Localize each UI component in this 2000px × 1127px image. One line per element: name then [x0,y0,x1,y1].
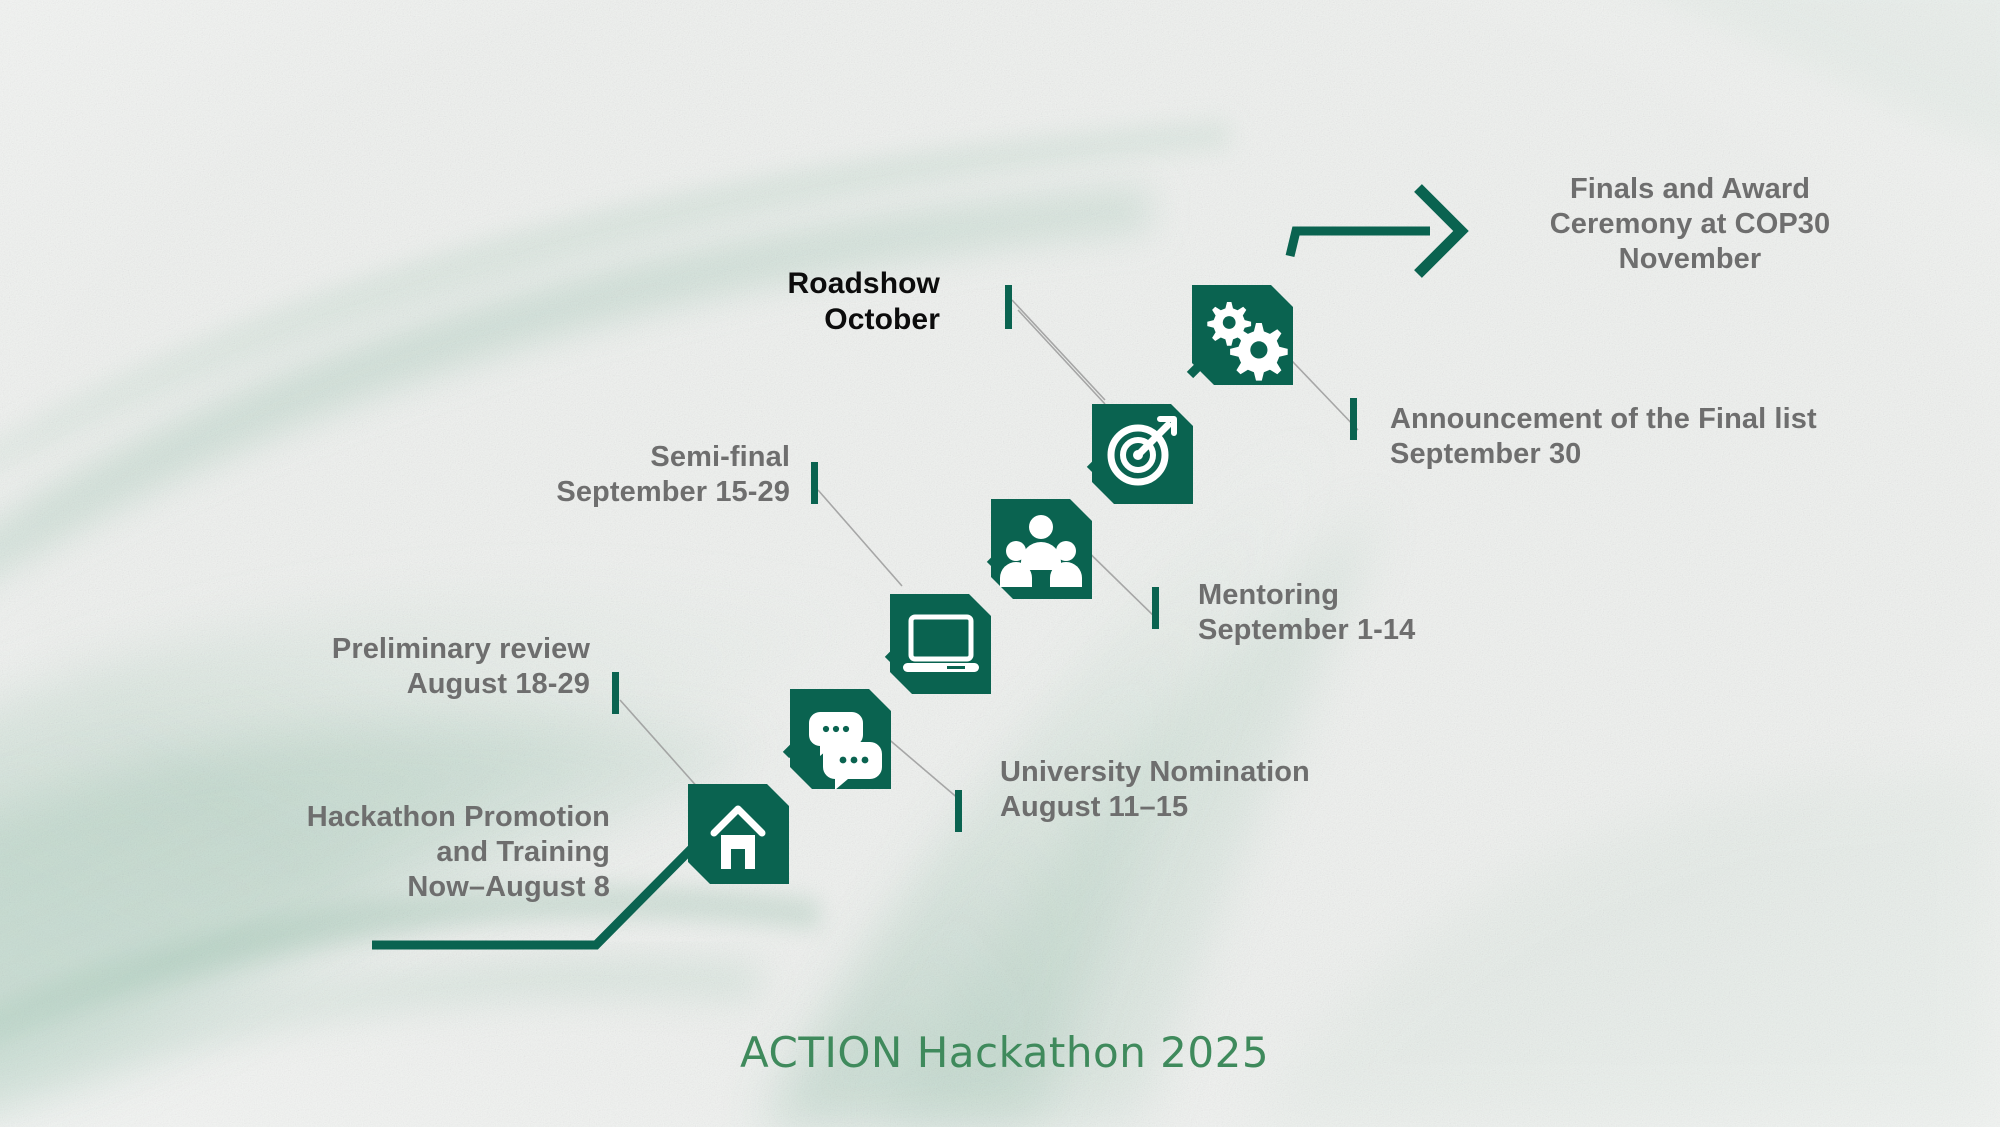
label-announcement-final-list: Announcement of the Final list September… [1390,402,1990,472]
milestone-node-announcement-final-list[interactable] [1192,285,1293,385]
label-university-nomination: University Nomination August 11–15 [1000,755,1480,825]
label-mentoring: Mentoring September 1-14 [1198,578,1618,648]
tick-university-nomination [955,790,962,832]
tick-announcement [1350,398,1357,440]
milestone-node-mentoring[interactable] [991,499,1092,599]
milestone-node-hackathon-promotion[interactable] [688,784,789,884]
label-preliminary-review: Preliminary review August 18-29 [180,632,590,702]
tick-semi-final [811,462,818,504]
milestone-node-university-nomination[interactable] [790,689,891,790]
timeline-poster: Hackathon Promotion and Training Now–Aug… [0,0,2000,1127]
label-hackathon-promotion: Hackathon Promotion and Training Now–Aug… [180,800,610,904]
milestone-node-semi-final[interactable] [1092,404,1193,504]
footer-title: ACTION Hackathon 2025 [740,1028,1269,1077]
label-roadshow: Roadshow October [580,266,940,338]
label-finals-award-ceremony: Finals and Award Ceremony at COP30 Novem… [1480,172,1900,276]
tick-roadshow [1005,285,1012,329]
timeline-graphic [0,0,2000,1127]
tick-hackathon-promotion [612,672,619,714]
label-semi-final: Semi-final September 15-29 [330,440,790,510]
milestone-node-preliminary-review[interactable] [890,594,991,694]
tick-mentoring [1152,587,1159,629]
